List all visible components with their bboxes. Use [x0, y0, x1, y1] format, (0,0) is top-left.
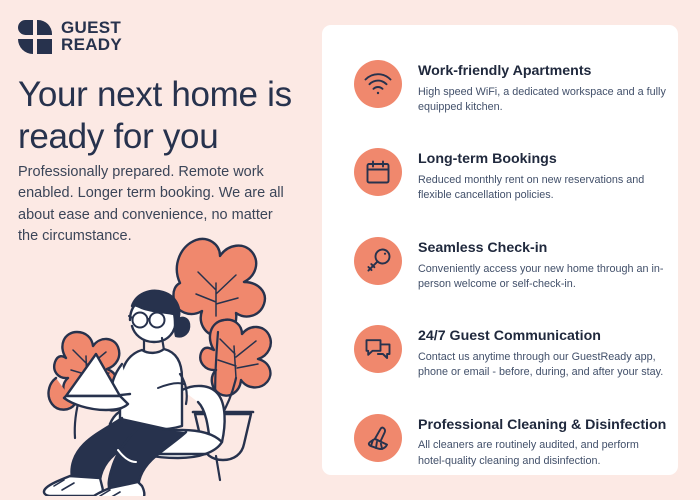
- list-item[interactable]: 24/7 Guest Communication Contact us anyt…: [354, 325, 666, 380]
- feature-description: Reduced monthly rent on new reservations…: [418, 173, 666, 204]
- feature-body: Professional Cleaning & Disinfection All…: [418, 414, 666, 469]
- feature-title: Professional Cleaning & Disinfection: [418, 417, 666, 435]
- feature-body: 24/7 Guest Communication Contact us anyt…: [418, 325, 666, 380]
- key-icon: [354, 237, 402, 285]
- logo-quadrant-top-left: [18, 20, 33, 35]
- brand-logo[interactable]: GUEST READY: [18, 20, 122, 54]
- feature-description: All cleaners are routinely audited, and …: [418, 438, 666, 469]
- list-item[interactable]: Professional Cleaning & Disinfection All…: [354, 414, 666, 469]
- feature-description: Conveniently access your new home throug…: [418, 262, 666, 293]
- chat-bubbles-icon: [354, 325, 402, 373]
- feature-title: Seamless Check-in: [418, 240, 666, 258]
- list-item[interactable]: Seamless Check-in Conveniently access yo…: [354, 237, 666, 292]
- feature-description: Contact us anytime through our GuestRead…: [418, 350, 666, 381]
- list-item[interactable]: Work-friendly Apartments High speed WiFi…: [354, 60, 666, 115]
- feature-body: Work-friendly Apartments High speed WiFi…: [418, 60, 666, 115]
- logo-quadrant-bottom-right: [37, 39, 52, 54]
- feature-title: 24/7 Guest Communication: [418, 328, 666, 346]
- feature-title: Long-term Bookings: [418, 151, 666, 169]
- calendar-icon: [354, 148, 402, 196]
- feature-list: Work-friendly Apartments High speed WiFi…: [354, 60, 666, 469]
- guestready-quadrant-logo-icon: [18, 20, 52, 54]
- features-card: Work-friendly Apartments High speed WiFi…: [322, 25, 678, 475]
- list-item[interactable]: Long-term Bookings Reduced monthly rent …: [354, 148, 666, 203]
- broom-icon: [354, 414, 402, 462]
- feature-body: Long-term Bookings Reduced monthly rent …: [418, 148, 666, 203]
- feature-body: Seamless Check-in Conveniently access yo…: [418, 237, 666, 292]
- page-title: Your next home is ready for you: [18, 74, 310, 157]
- wifi-icon: [354, 60, 402, 108]
- feature-title: Work-friendly Apartments: [418, 63, 666, 81]
- hero-illustration: [30, 228, 322, 496]
- feature-description: High speed WiFi, a dedicated workspace a…: [418, 85, 666, 116]
- logo-quadrant-bottom-left: [18, 39, 33, 54]
- hero-column: GUEST READY Your next home is ready for …: [0, 0, 322, 500]
- brand-name-line2: READY: [61, 37, 122, 54]
- logo-quadrant-top-right: [37, 20, 52, 35]
- brand-wordmark: GUEST READY: [61, 20, 122, 53]
